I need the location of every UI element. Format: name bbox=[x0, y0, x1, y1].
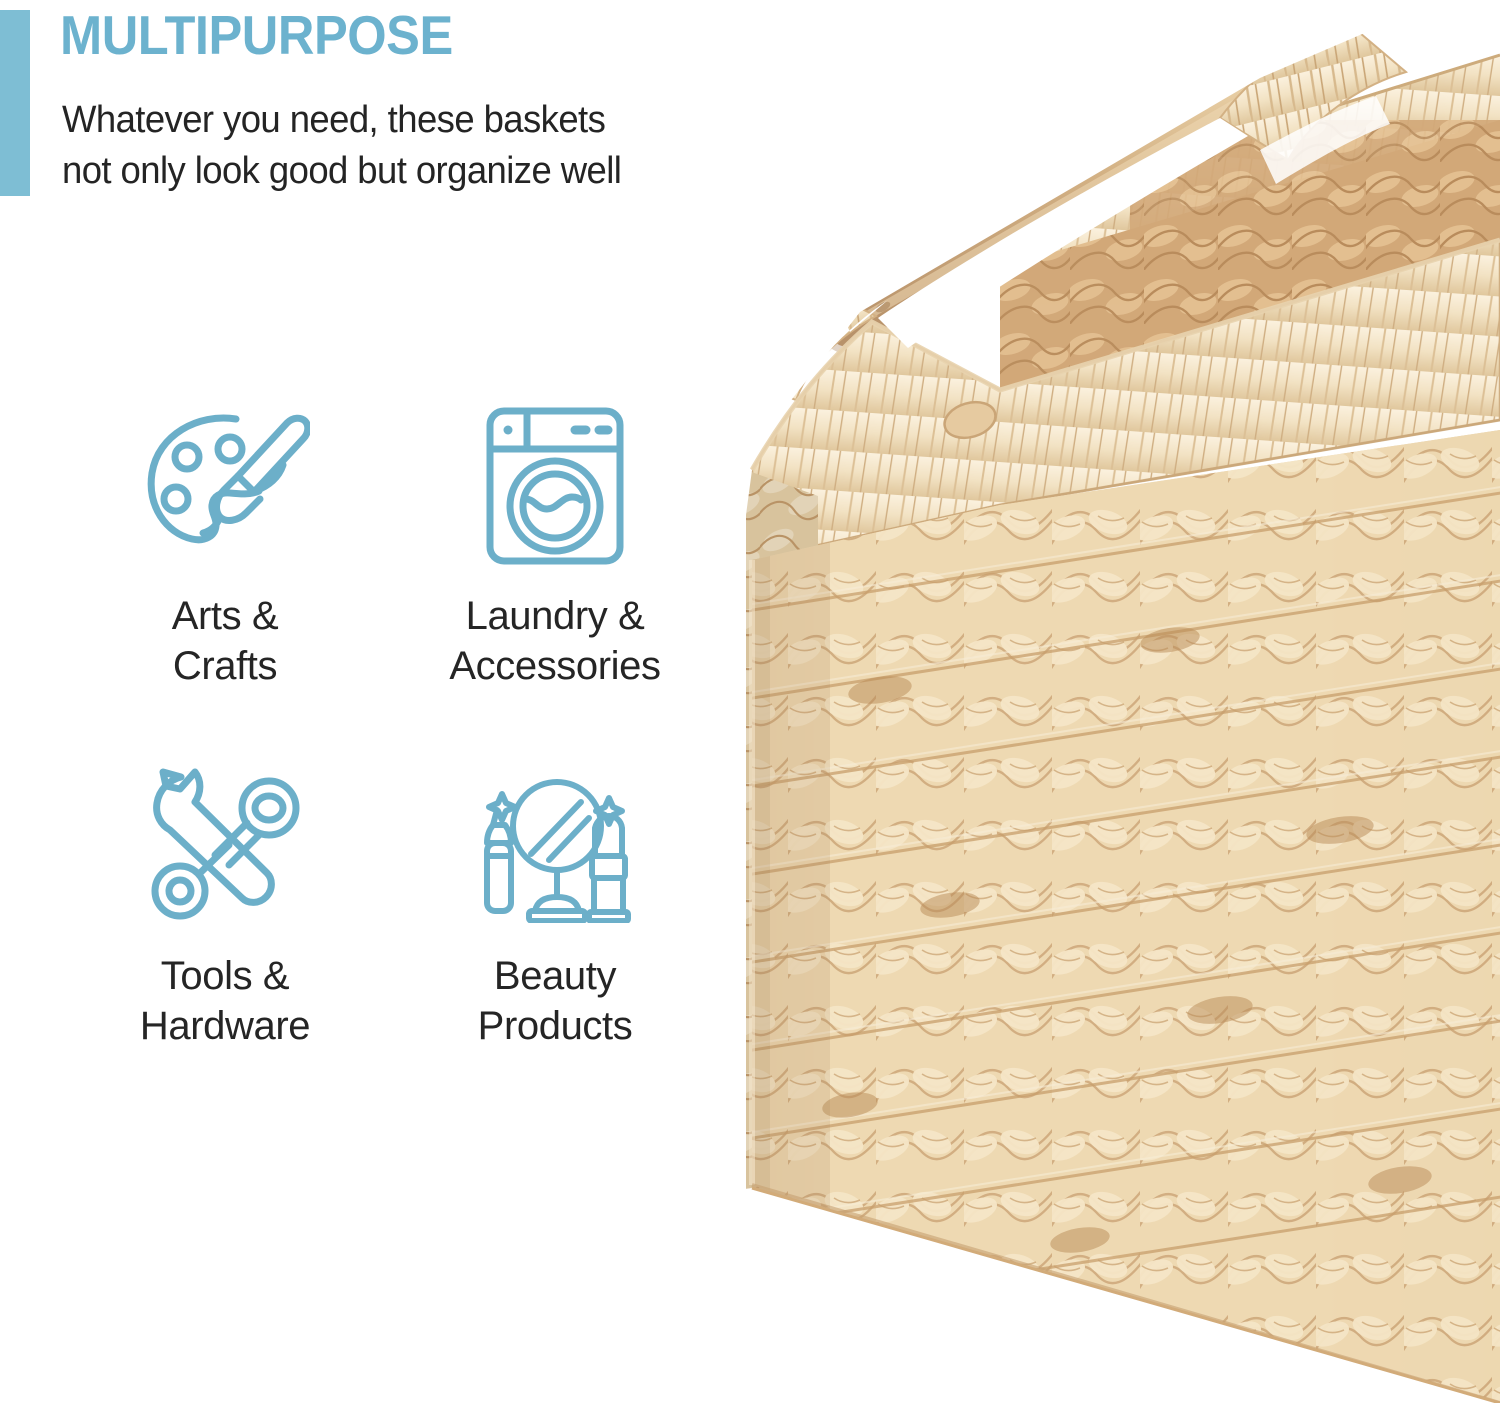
crossed-wrenches-icon bbox=[145, 755, 305, 935]
feature-grid: Arts & Crafts Laundry & Accessories bbox=[60, 395, 720, 1115]
feature-label: Beauty Products bbox=[478, 951, 633, 1052]
feature-label: Tools & Hardware bbox=[140, 951, 310, 1052]
accent-bar bbox=[0, 10, 30, 196]
header: MULTIPURPOSE Whatever you need, these ba… bbox=[0, 0, 760, 210]
vanity-mirror-makeup-icon bbox=[473, 755, 638, 935]
feature-label: Laundry & Accessories bbox=[449, 591, 660, 692]
feature-item-laundry-accessories: Laundry & Accessories bbox=[390, 395, 720, 755]
product-photo bbox=[700, 0, 1500, 1403]
feature-label: Arts & Crafts bbox=[172, 591, 279, 692]
feature-item-tools-hardware: Tools & Hardware bbox=[60, 755, 390, 1115]
page-title: MULTIPURPOSE bbox=[60, 8, 453, 63]
feature-item-beauty-products: Beauty Products bbox=[390, 755, 720, 1115]
page-subtitle: Whatever you need, these baskets not onl… bbox=[62, 95, 621, 196]
washing-machine-icon bbox=[480, 395, 630, 575]
woven-basket-illustration bbox=[700, 0, 1500, 1403]
feature-item-arts-crafts: Arts & Crafts bbox=[60, 395, 390, 755]
palette-paintbrush-icon bbox=[140, 395, 310, 575]
